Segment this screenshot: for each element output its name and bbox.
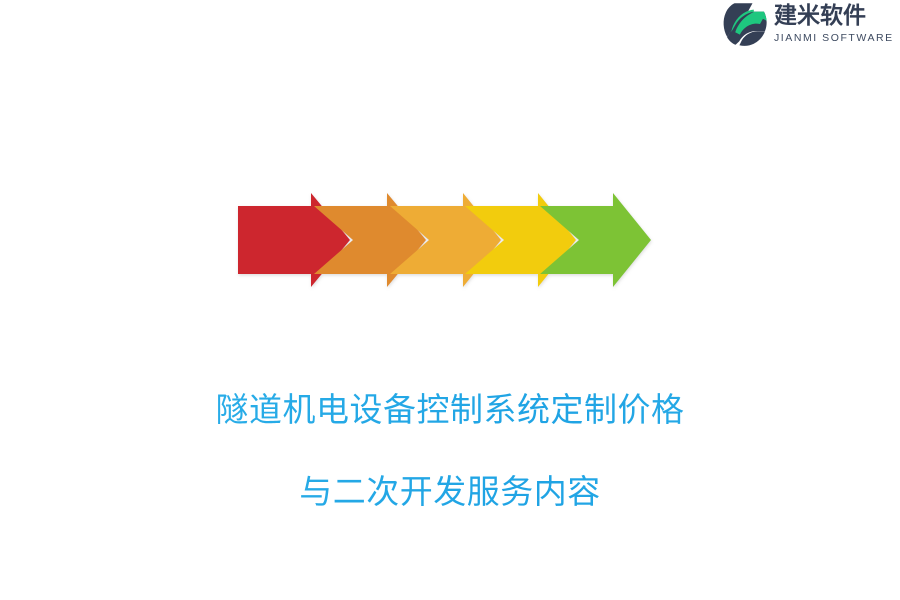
page-title-line-2: 与二次开发服务内容 [0, 471, 900, 512]
page-title-line-1: 隧道机电设备控制系统定制价格 [0, 389, 900, 430]
process-arrow-graphic [228, 186, 654, 294]
page-title: 隧道机电设备控制系统定制价格 与二次开发服务内容 [0, 348, 900, 553]
jianmi-hexagon-leaf-logo-icon [722, 2, 768, 46]
brand-name-cn: 建米软件 [774, 5, 894, 28]
brand-logo: 建米软件 JIANMI SOFTWARE [722, 0, 900, 48]
brand-name-en: JIANMI SOFTWARE [774, 33, 894, 44]
brand-text: 建米软件 JIANMI SOFTWARE [774, 4, 894, 44]
